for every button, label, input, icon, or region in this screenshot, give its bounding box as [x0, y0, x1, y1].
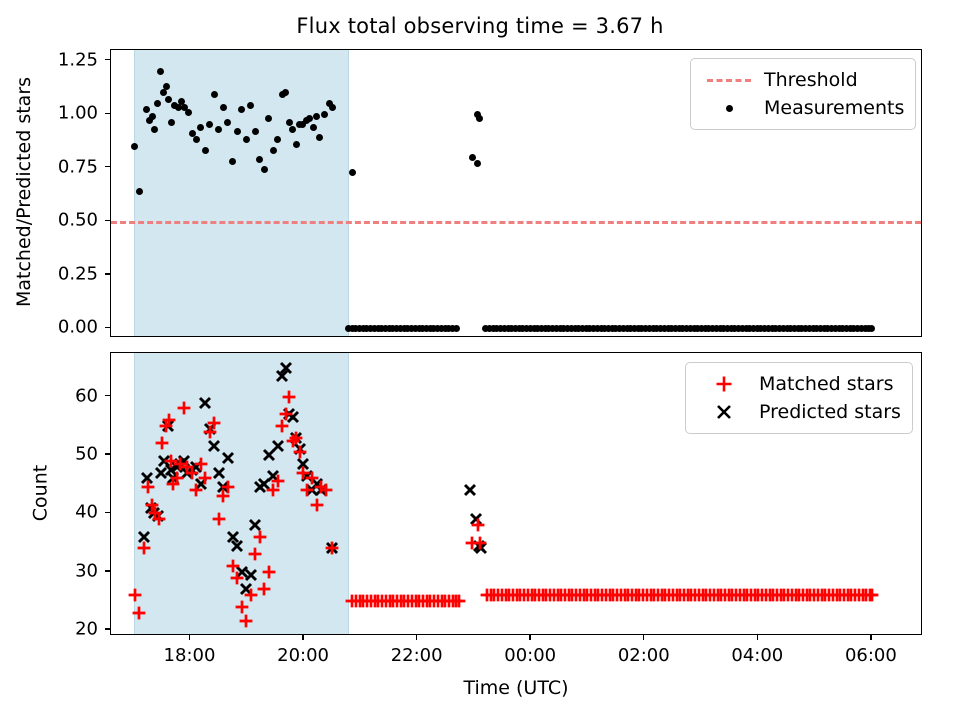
measurement-point [252, 128, 259, 135]
legend-label-measurements: Measurements [758, 97, 904, 119]
predicted-star-point [286, 368, 287, 369]
matched-star-point [177, 478, 178, 479]
matched-star-point [264, 589, 265, 590]
ratio-panel-ylabel: Matched/Predicted stars [13, 48, 35, 336]
count-panel-ytick-mark [105, 395, 110, 396]
xtick-label: 20:00 [277, 645, 329, 666]
matched-star-point [332, 548, 333, 549]
ratio-panel-ytick-mark [105, 220, 110, 221]
ratio-panel-ytick-mark [105, 273, 110, 274]
measurement-point [474, 160, 481, 167]
matched-star-point [169, 420, 170, 421]
predicted-star-point [144, 537, 145, 538]
measurement-point [151, 126, 158, 133]
count-panel-legend: Matched stars Predicted stars [685, 362, 913, 434]
matched-star-point [162, 443, 163, 444]
xtick-mark [757, 635, 758, 640]
measurement-point [163, 83, 170, 90]
matched-star-point [205, 478, 206, 479]
xtick-label: 06:00 [845, 645, 897, 666]
matched-star-point [260, 537, 261, 538]
measurement-point [313, 113, 320, 120]
ratio-panel-legend: Threshold Measurements [690, 58, 916, 130]
measurement-point [229, 158, 236, 165]
xtick-label: 00:00 [504, 645, 556, 666]
x-marker-icon [695, 403, 753, 421]
matched-star-point [210, 432, 211, 433]
measurement-point-zero [453, 325, 460, 332]
measurement-point [256, 156, 263, 163]
ratio-panel-ytick-mark [105, 327, 110, 328]
legend-item-threshold: Threshold [700, 66, 904, 94]
measurement-point [149, 113, 156, 120]
measurement-point [185, 109, 192, 116]
matched-star-point [269, 572, 270, 573]
matched-star-point [326, 490, 327, 491]
xtick-mark [529, 635, 530, 640]
legend-label-threshold: Threshold [758, 69, 858, 91]
matched-star-point [251, 595, 252, 596]
legend-item-matched-stars: Matched stars [695, 370, 901, 398]
count-panel-ytick-mark [105, 570, 110, 571]
measurement-point [476, 115, 483, 122]
matched-star-point [282, 426, 283, 427]
matched-star-point [296, 438, 297, 439]
ratio-panel-ytick-mark [105, 166, 110, 167]
measurement-point [270, 147, 277, 154]
matched-star-point [307, 490, 308, 491]
ratio-panel-ytick-mark [105, 113, 110, 114]
matched-star-point [246, 621, 247, 622]
measurement-point [136, 188, 143, 195]
matched-star-point-flat [872, 595, 873, 596]
dot-marker-icon [700, 105, 758, 112]
measurement-point [310, 124, 317, 131]
predicted-star-point [161, 473, 162, 474]
figure-container: Flux total observing time = 3.67 h 0.000… [0, 0, 960, 720]
matched-star-point [480, 543, 481, 544]
matched-star-point [214, 423, 215, 424]
matched-star-point [148, 487, 149, 488]
predicted-star-point [255, 525, 256, 526]
predicted-star-point [228, 458, 229, 459]
matched-star-point [228, 487, 229, 488]
matched-star-point [289, 397, 290, 398]
matched-star-point [139, 613, 140, 614]
xtick-mark [416, 635, 417, 640]
matched-star-point [184, 408, 185, 409]
matched-star-point [219, 519, 220, 520]
matched-star-point [135, 595, 136, 596]
matched-star-point [233, 566, 234, 567]
xtick-label: 18:00 [164, 645, 216, 666]
legend-label-matched-stars: Matched stars [753, 373, 893, 395]
predicted-star-point [269, 455, 270, 456]
threshold-line [111, 221, 921, 224]
predicted-star-point [251, 575, 252, 576]
matched-star-point [237, 578, 238, 579]
measurement-point [197, 124, 204, 131]
count-panel-ytick-mark [105, 453, 110, 454]
legend-label-predicted-stars: Predicted stars [753, 401, 901, 423]
predicted-star-point [205, 403, 206, 404]
measurement-point [321, 111, 328, 118]
matched-star-point [255, 554, 256, 555]
matched-star-point [300, 452, 301, 453]
legend-item-predicted-stars: Predicted stars [695, 398, 901, 426]
matched-star-point [159, 519, 160, 520]
matched-star-point [196, 490, 197, 491]
measurement-point [349, 169, 356, 176]
matched-star-point [201, 464, 202, 465]
ratio-panel-ytick-mark [105, 59, 110, 60]
matched-star-point [317, 505, 318, 506]
predicted-star-point [282, 376, 283, 377]
predicted-star-point [219, 473, 220, 474]
matched-star-point [144, 548, 145, 549]
xtick-mark [870, 635, 871, 640]
xtick-label: 22:00 [391, 645, 443, 666]
matched-star-point [192, 473, 193, 474]
predicted-star-point [214, 446, 215, 447]
plus-marker-icon [695, 375, 753, 393]
xtick-label: 02:00 [618, 645, 670, 666]
measurement-point [157, 68, 164, 75]
xtick-label: 04:00 [731, 645, 783, 666]
measurement-point [469, 154, 476, 161]
count-panel-ytick-mark [105, 628, 110, 629]
matched-star-point [242, 607, 243, 608]
matched-star-point [278, 481, 279, 482]
count-panel-ylabel: Count [29, 351, 51, 634]
xtick-mark [189, 635, 190, 640]
dashed-line-icon [700, 79, 758, 82]
matched-star-point [286, 414, 287, 415]
measurement-point-zero [868, 325, 875, 332]
matched-star-point-flat [459, 601, 460, 602]
measurement-point [293, 141, 300, 148]
matched-star-point [273, 490, 274, 491]
matched-star-point [223, 496, 224, 497]
legend-item-measurements: Measurements [700, 94, 904, 122]
count-panel-ytick-mark [105, 512, 110, 513]
measurement-point [234, 128, 241, 135]
xtick-mark [643, 635, 644, 640]
measurement-point [289, 126, 296, 133]
measurement-point [202, 147, 209, 154]
matched-star-point [478, 525, 479, 526]
x-axis-label: Time (UTC) [110, 677, 922, 699]
measurement-point [168, 119, 175, 126]
predicted-star-point [237, 546, 238, 547]
predicted-star-point [278, 446, 279, 447]
xtick-mark [302, 635, 303, 640]
page-title: Flux total observing time = 3.67 h [0, 14, 960, 38]
predicted-star-point [470, 490, 471, 491]
